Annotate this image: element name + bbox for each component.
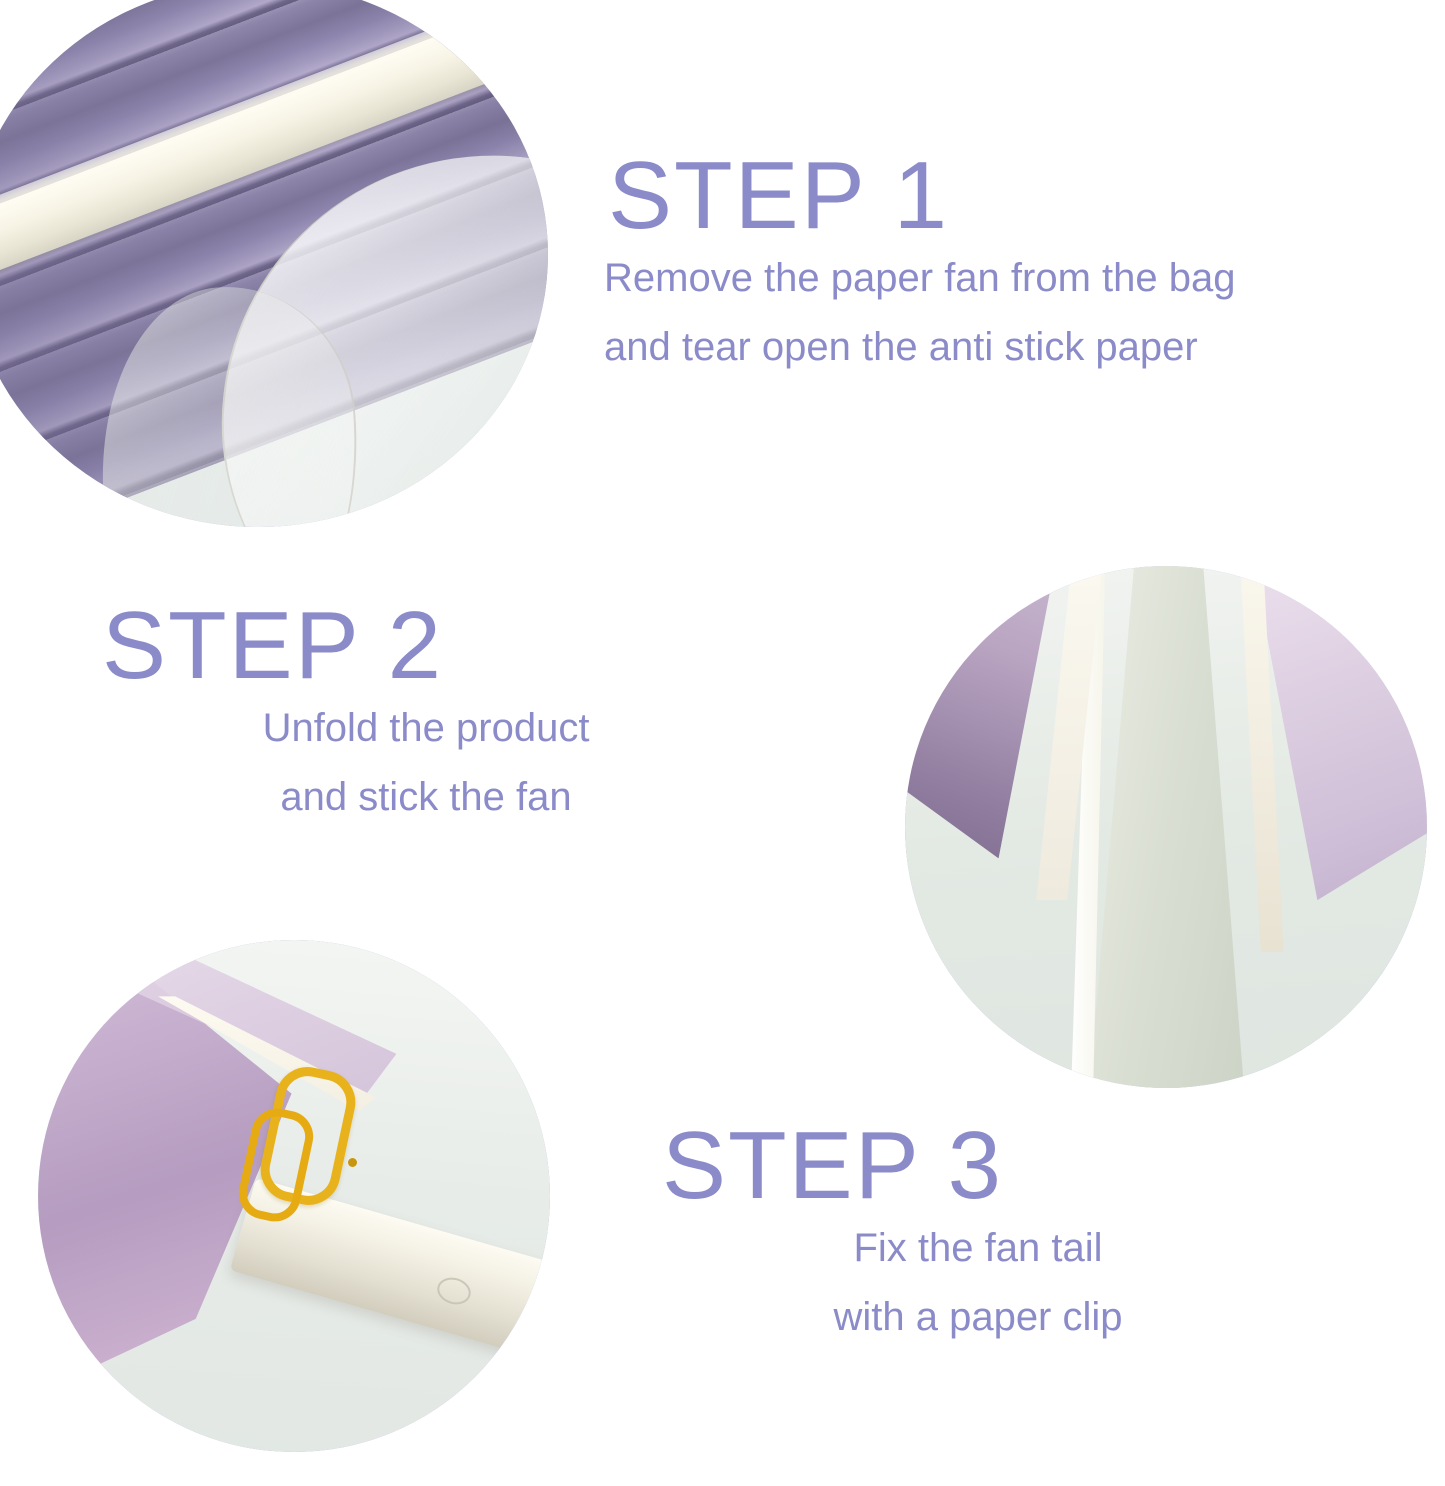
step-2-title: STEP 2 <box>96 598 756 694</box>
step-1-description-line-2: and tear open the anti stick paper <box>600 313 1235 382</box>
paper-clip-end <box>348 1158 357 1167</box>
step-1-text-block: STEP 1 Remove the paper fan from the bag… <box>600 148 1235 382</box>
step-1-description-line-1: Remove the paper fan from the bag <box>600 244 1235 313</box>
step-3-photo <box>38 940 550 1452</box>
step-1-title: STEP 1 <box>600 148 1235 244</box>
step-3-text-block: STEP 3 Fix the fan tail with a paper cli… <box>658 1118 1298 1352</box>
step-3-photo-inner <box>38 940 550 1452</box>
step-3-description-line-1: Fix the fan tail <box>658 1214 1298 1283</box>
step-2-description-line-2: and stick the fan <box>96 763 756 832</box>
step-2-photo-inner <box>905 566 1427 1088</box>
step-3-title: STEP 3 <box>658 1118 1298 1214</box>
step-1-photo-inner <box>0 0 548 527</box>
step-2-description-line-1: Unfold the product <box>96 694 756 763</box>
step-2-photo <box>905 566 1427 1088</box>
step-1-photo <box>0 0 548 527</box>
instruction-graphic: STEP 1 Remove the paper fan from the bag… <box>0 0 1445 1486</box>
step-2-text-block: STEP 2 Unfold the product and stick the … <box>96 598 756 832</box>
step-3-description-line-2: with a paper clip <box>658 1283 1298 1352</box>
